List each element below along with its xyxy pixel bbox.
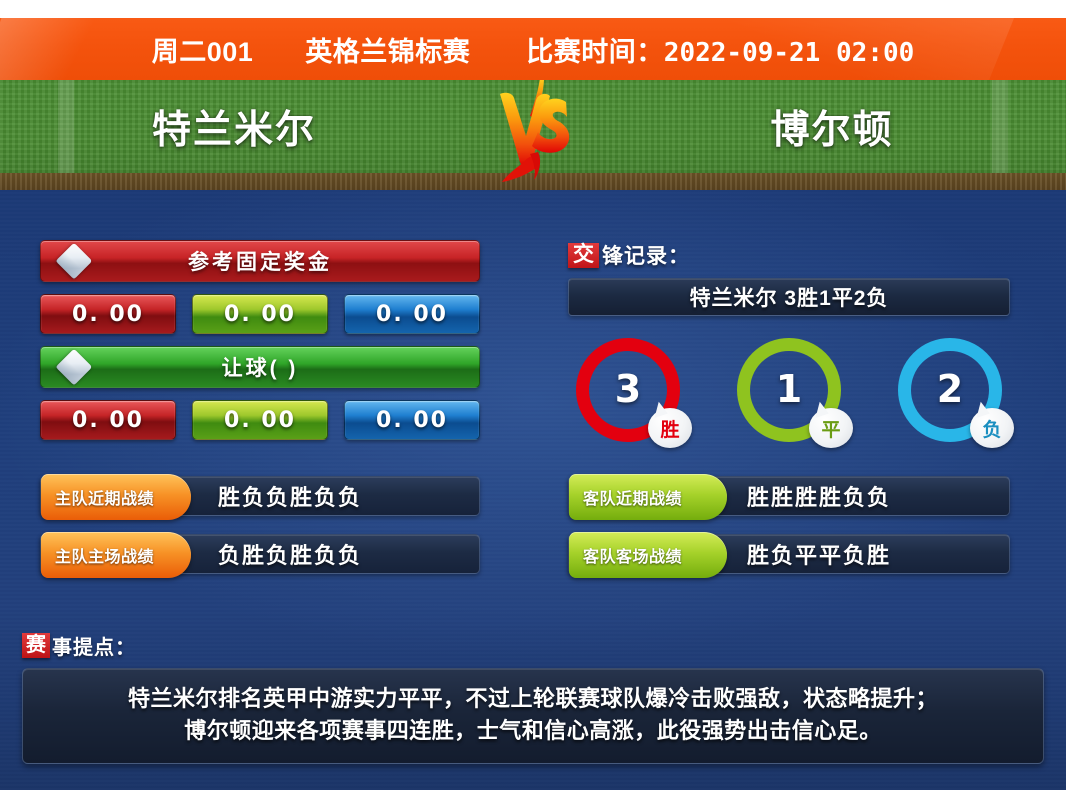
fixed-bonus-win-odds[interactable]: 0. 00 bbox=[40, 294, 176, 334]
fixed-bonus-odds-row: 0. 00 0. 00 0. 00 bbox=[40, 294, 480, 334]
h2h-draw-count: 1 bbox=[776, 367, 802, 411]
away-away-form-row: 客队客场战绩 胜负平平负胜 bbox=[568, 534, 1010, 574]
h2h-column: 交 锋记录： 特兰米尔 3胜1平2负 3 胜 1 平 bbox=[568, 240, 1010, 574]
main-content-panel: 参考固定奖金 0. 00 0. 00 0. 00 让球( ) 0. 00 0. … bbox=[0, 190, 1066, 790]
h2h-win-badge: 胜 bbox=[648, 408, 692, 448]
match-time-label: 比赛时间： bbox=[526, 37, 664, 67]
h2h-heading-text: 锋记录： bbox=[602, 240, 690, 270]
match-time: 比赛时间：2022-09-21 02:00 bbox=[526, 30, 914, 69]
h2h-lose-badge: 负 bbox=[970, 408, 1014, 448]
match-preview-page: 周二001 英格兰锦标赛 比赛时间：2022-09-21 02:00 特兰米尔 bbox=[0, 0, 1066, 802]
h2h-heading: 交 锋记录： bbox=[568, 240, 1010, 270]
away-team-name: 博尔顿 bbox=[598, 99, 1066, 155]
vs-container bbox=[468, 80, 598, 173]
handicap-title: 让球( ) bbox=[222, 352, 299, 382]
fixed-bonus-title-bar: 参考固定奖金 bbox=[40, 240, 480, 282]
h2h-donut-group: 3 胜 1 平 2 负 bbox=[568, 338, 1010, 442]
diamond-icon bbox=[56, 243, 93, 280]
handicap-title-bar: 让球( ) bbox=[40, 346, 480, 388]
home-home-form-row: 主队主场战绩 负胜负胜负负 bbox=[40, 534, 480, 574]
fixed-bonus-title: 参考固定奖金 bbox=[188, 246, 332, 276]
home-recent-form-label: 主队近期战绩 bbox=[41, 474, 191, 520]
away-recent-form-row: 客队近期战绩 胜胜胜胜负负 bbox=[568, 476, 1010, 516]
analysis-section: 赛 事提点： 特兰米尔排名英甲中游实力平平，不过上轮联赛球队爆冷击败强敌，状态略… bbox=[22, 630, 1044, 764]
h2h-draw-donut-wrap: 1 平 bbox=[737, 338, 841, 442]
teams-row: 特兰米尔 bbox=[0, 80, 1066, 173]
h2h-heading-chip: 交 bbox=[568, 243, 599, 268]
odds-column: 参考固定奖金 0. 00 0. 00 0. 00 让球( ) 0. 00 0. … bbox=[40, 240, 480, 574]
match-round-number: 周二001 bbox=[152, 30, 254, 69]
match-league-name: 英格兰锦标赛 bbox=[305, 30, 470, 69]
h2h-draw-badge: 平 bbox=[809, 408, 853, 448]
away-recent-form-label: 客队近期战绩 bbox=[569, 474, 727, 520]
analysis-heading: 赛 事提点： bbox=[22, 630, 1044, 660]
analysis-heading-chip: 赛 bbox=[22, 633, 50, 658]
h2h-summary-bar: 特兰米尔 3胜1平2负 bbox=[568, 278, 1010, 316]
handicap-draw-odds[interactable]: 0. 00 bbox=[192, 400, 328, 440]
match-header-inner: 周二001 英格兰锦标赛 比赛时间：2022-09-21 02:00 bbox=[152, 30, 915, 69]
home-home-form-label: 主队主场战绩 bbox=[41, 532, 191, 578]
diamond-icon bbox=[56, 349, 93, 386]
handicap-win-odds[interactable]: 0. 00 bbox=[40, 400, 176, 440]
h2h-lose-count: 2 bbox=[937, 367, 963, 411]
away-away-form-label: 客队客场战绩 bbox=[569, 532, 727, 578]
match-time-value: 2022-09-21 02:00 bbox=[664, 38, 914, 68]
home-recent-form-row: 主队近期战绩 胜负负胜负负 bbox=[40, 476, 480, 516]
match-header-bar: 周二001 英格兰锦标赛 比赛时间：2022-09-21 02:00 bbox=[0, 18, 1066, 80]
h2h-win-donut-wrap: 3 胜 bbox=[576, 338, 680, 442]
vs-flame-icon bbox=[478, 80, 588, 184]
analysis-line-1: 特兰米尔排名英甲中游实力平平，不过上轮联赛球队爆冷击败强敌，状态略提升； bbox=[47, 683, 1019, 715]
handicap-odds-row: 0. 00 0. 00 0. 00 bbox=[40, 400, 480, 440]
pitch-banner: 特兰米尔 bbox=[0, 80, 1066, 190]
fixed-bonus-draw-odds[interactable]: 0. 00 bbox=[192, 294, 328, 334]
h2h-win-count: 3 bbox=[615, 367, 641, 411]
h2h-lose-donut-wrap: 2 负 bbox=[898, 338, 1002, 442]
home-team-name: 特兰米尔 bbox=[0, 99, 468, 155]
handicap-lose-odds[interactable]: 0. 00 bbox=[344, 400, 480, 440]
analysis-text-box: 特兰米尔排名英甲中游实力平平，不过上轮联赛球队爆冷击败强敌，状态略提升； 博尔顿… bbox=[22, 668, 1044, 764]
analysis-line-2: 博尔顿迎来各项赛事四连胜，士气和信心高涨，此役强势出击信心足。 bbox=[47, 715, 1019, 747]
fixed-bonus-lose-odds[interactable]: 0. 00 bbox=[344, 294, 480, 334]
analysis-heading-text: 事提点： bbox=[52, 631, 136, 660]
